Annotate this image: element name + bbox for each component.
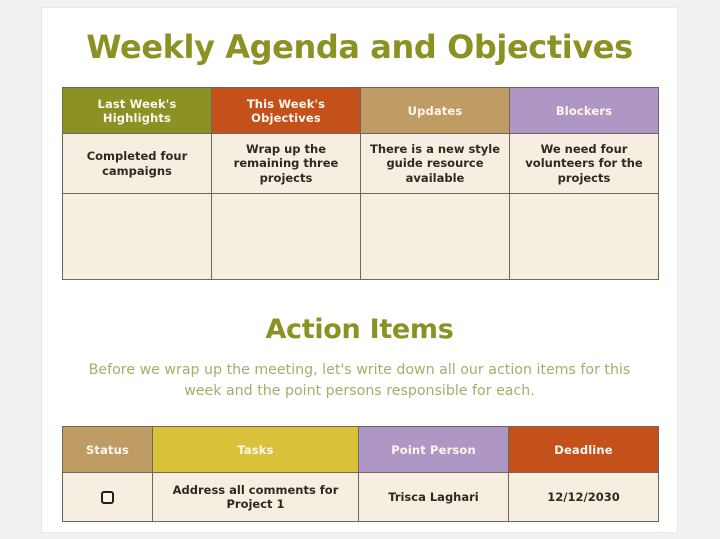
column-header-last-weeks-highlights: Last Week's Highlights	[63, 88, 212, 134]
table-row: Address all comments for Project 1 Trisc…	[63, 473, 659, 522]
cell-objectives-empty[interactable]	[212, 194, 361, 280]
cell-task[interactable]: Address all comments for Project 1	[153, 473, 359, 522]
column-header-updates: Updates	[361, 88, 510, 134]
column-header-status: Status	[63, 427, 153, 473]
page-title: Weekly Agenda and Objectives	[42, 28, 677, 66]
document-sheet: Weekly Agenda and Objectives Last Week's…	[42, 8, 677, 532]
table-header-row: Status Tasks Point Person Deadline	[63, 427, 659, 473]
cell-deadline[interactable]: 12/12/2030	[509, 473, 659, 522]
cell-blockers-empty[interactable]	[510, 194, 659, 280]
column-header-deadline: Deadline	[509, 427, 659, 473]
cell-status[interactable]	[63, 473, 153, 522]
column-header-this-weeks-objectives: This Week's Objectives	[212, 88, 361, 134]
weekly-agenda-table: Last Week's Highlights This Week's Objec…	[62, 87, 659, 280]
column-header-blockers: Blockers	[510, 88, 659, 134]
action-items-table: Status Tasks Point Person Deadline Addre…	[62, 426, 659, 522]
cell-updates-empty[interactable]	[361, 194, 510, 280]
cell-point-person[interactable]: Trisca Laghari	[359, 473, 509, 522]
unchecked-checkbox-icon[interactable]	[101, 491, 114, 504]
page-background: Weekly Agenda and Objectives Last Week's…	[0, 0, 720, 539]
section-subtitle: Before we wrap up the meeting, let's wri…	[80, 360, 639, 402]
cell-blockers[interactable]: We need four volunteers for the projects	[510, 134, 659, 194]
section-title-action-items: Action Items	[42, 314, 677, 345]
cell-updates[interactable]: There is a new style guide resource avai…	[361, 134, 510, 194]
cell-highlights-empty[interactable]	[63, 194, 212, 280]
cell-highlights[interactable]: Completed four campaigns	[63, 134, 212, 194]
table-row-empty	[63, 194, 659, 280]
column-header-point-person: Point Person	[359, 427, 509, 473]
table-row: Completed four campaigns Wrap up the rem…	[63, 134, 659, 194]
cell-objectives[interactable]: Wrap up the remaining three projects	[212, 134, 361, 194]
column-header-tasks: Tasks	[153, 427, 359, 473]
table-header-row: Last Week's Highlights This Week's Objec…	[63, 88, 659, 134]
